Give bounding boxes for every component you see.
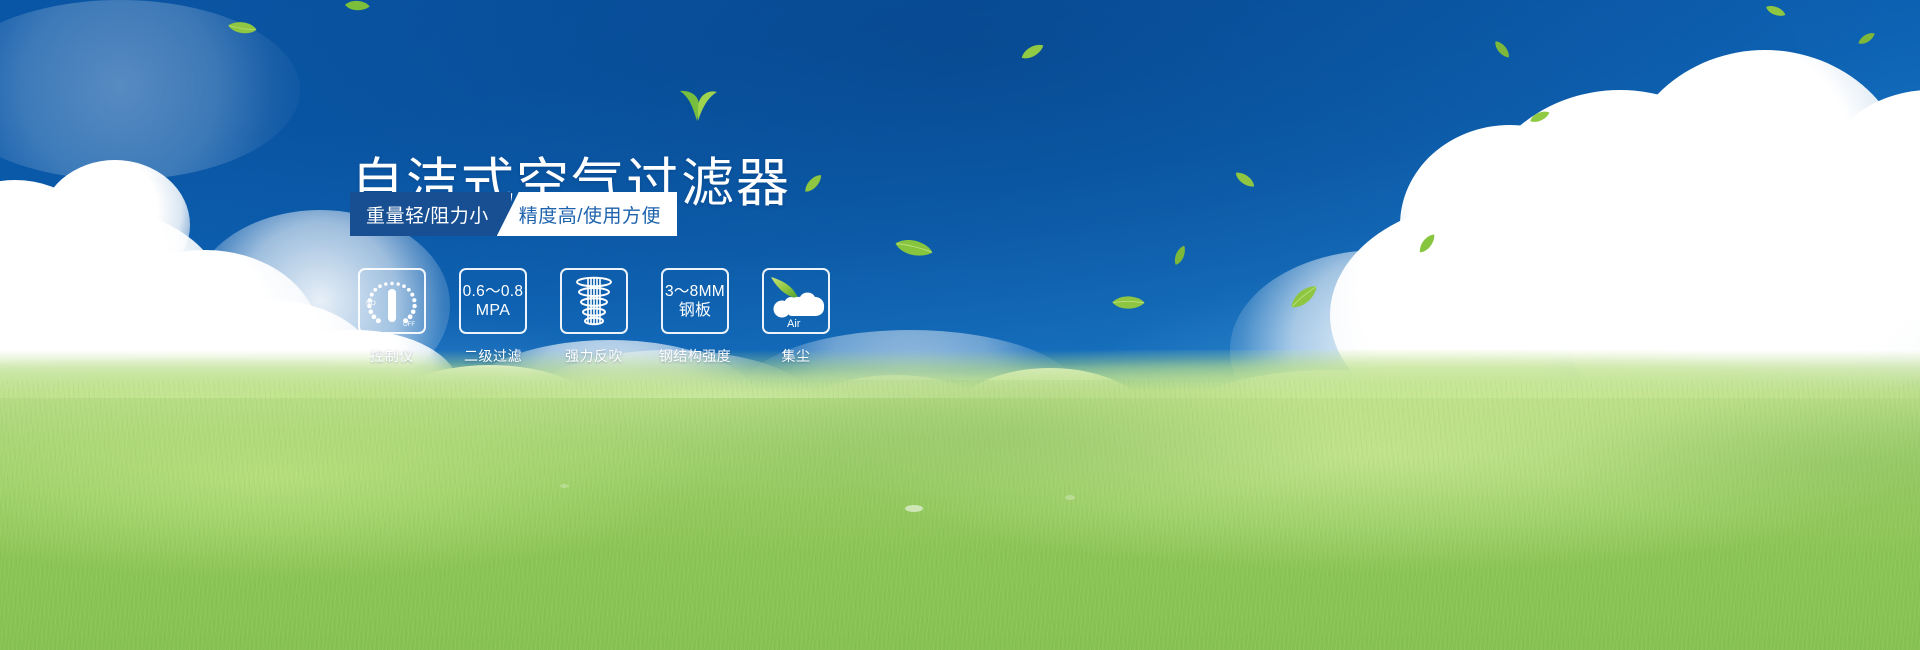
air-cloud-icon: Air bbox=[762, 268, 830, 334]
gauge-dial-icon: NO OFF bbox=[358, 268, 426, 334]
feature-icon-row: NO OFF 控制仪 0.6～0.8 MPA 二级过滤 bbox=[356, 268, 832, 366]
feature-label-steel: 钢结构强度 bbox=[659, 346, 732, 366]
title-leaf-icon bbox=[676, 88, 720, 127]
banner-stage: 自洁式空气过滤器 重量轻/阻力小 精度高/使用方便 bbox=[0, 0, 1920, 650]
feature-item-controller[interactable]: NO OFF 控制仪 bbox=[356, 268, 428, 366]
pressure-value-icon: 0.6～0.8 MPA bbox=[459, 268, 527, 334]
feature-label-filtration: 二级过滤 bbox=[464, 346, 522, 366]
feature-item-backblow[interactable]: 强力反吹 bbox=[558, 268, 630, 366]
badge-precision-ease[interactable]: 精度高/使用方便 bbox=[497, 192, 677, 236]
steel-plate-icon: 3～8MM 钢板 bbox=[661, 268, 729, 334]
feature-item-filtration[interactable]: 0.6～0.8 MPA 二级过滤 bbox=[457, 268, 529, 366]
feature-label-backblow: 强力反吹 bbox=[565, 346, 623, 366]
badge-precision-ease-label: 精度高/使用方便 bbox=[519, 201, 661, 228]
gauge-off-text: OFF bbox=[403, 322, 415, 328]
feature-item-dust[interactable]: Air 集尘 bbox=[760, 268, 832, 366]
air-text: Air bbox=[787, 318, 801, 330]
badge-weight-resistance[interactable]: 重量轻/阻力小 bbox=[350, 192, 511, 236]
pressure-range-text: 0.6～0.8 bbox=[463, 282, 524, 301]
banner-content: 自洁式空气过滤器 重量轻/阻力小 精度高/使用方便 bbox=[0, 0, 1920, 650]
tagline-badges: 重量轻/阻力小 精度高/使用方便 bbox=[350, 192, 677, 236]
pulse-jet-icon bbox=[560, 268, 628, 334]
steel-plate-text: 钢板 bbox=[665, 301, 725, 320]
badge-weight-resistance-label: 重量轻/阻力小 bbox=[366, 201, 489, 228]
feature-item-steel[interactable]: 3～8MM 钢板 钢结构强度 bbox=[659, 268, 731, 366]
gauge-no-text: NO bbox=[366, 300, 376, 307]
feature-label-dust: 集尘 bbox=[782, 346, 811, 366]
pressure-unit-text: MPA bbox=[463, 301, 524, 320]
feature-label-controller: 控制仪 bbox=[370, 346, 414, 366]
steel-thickness-text: 3～8MM bbox=[665, 282, 725, 301]
